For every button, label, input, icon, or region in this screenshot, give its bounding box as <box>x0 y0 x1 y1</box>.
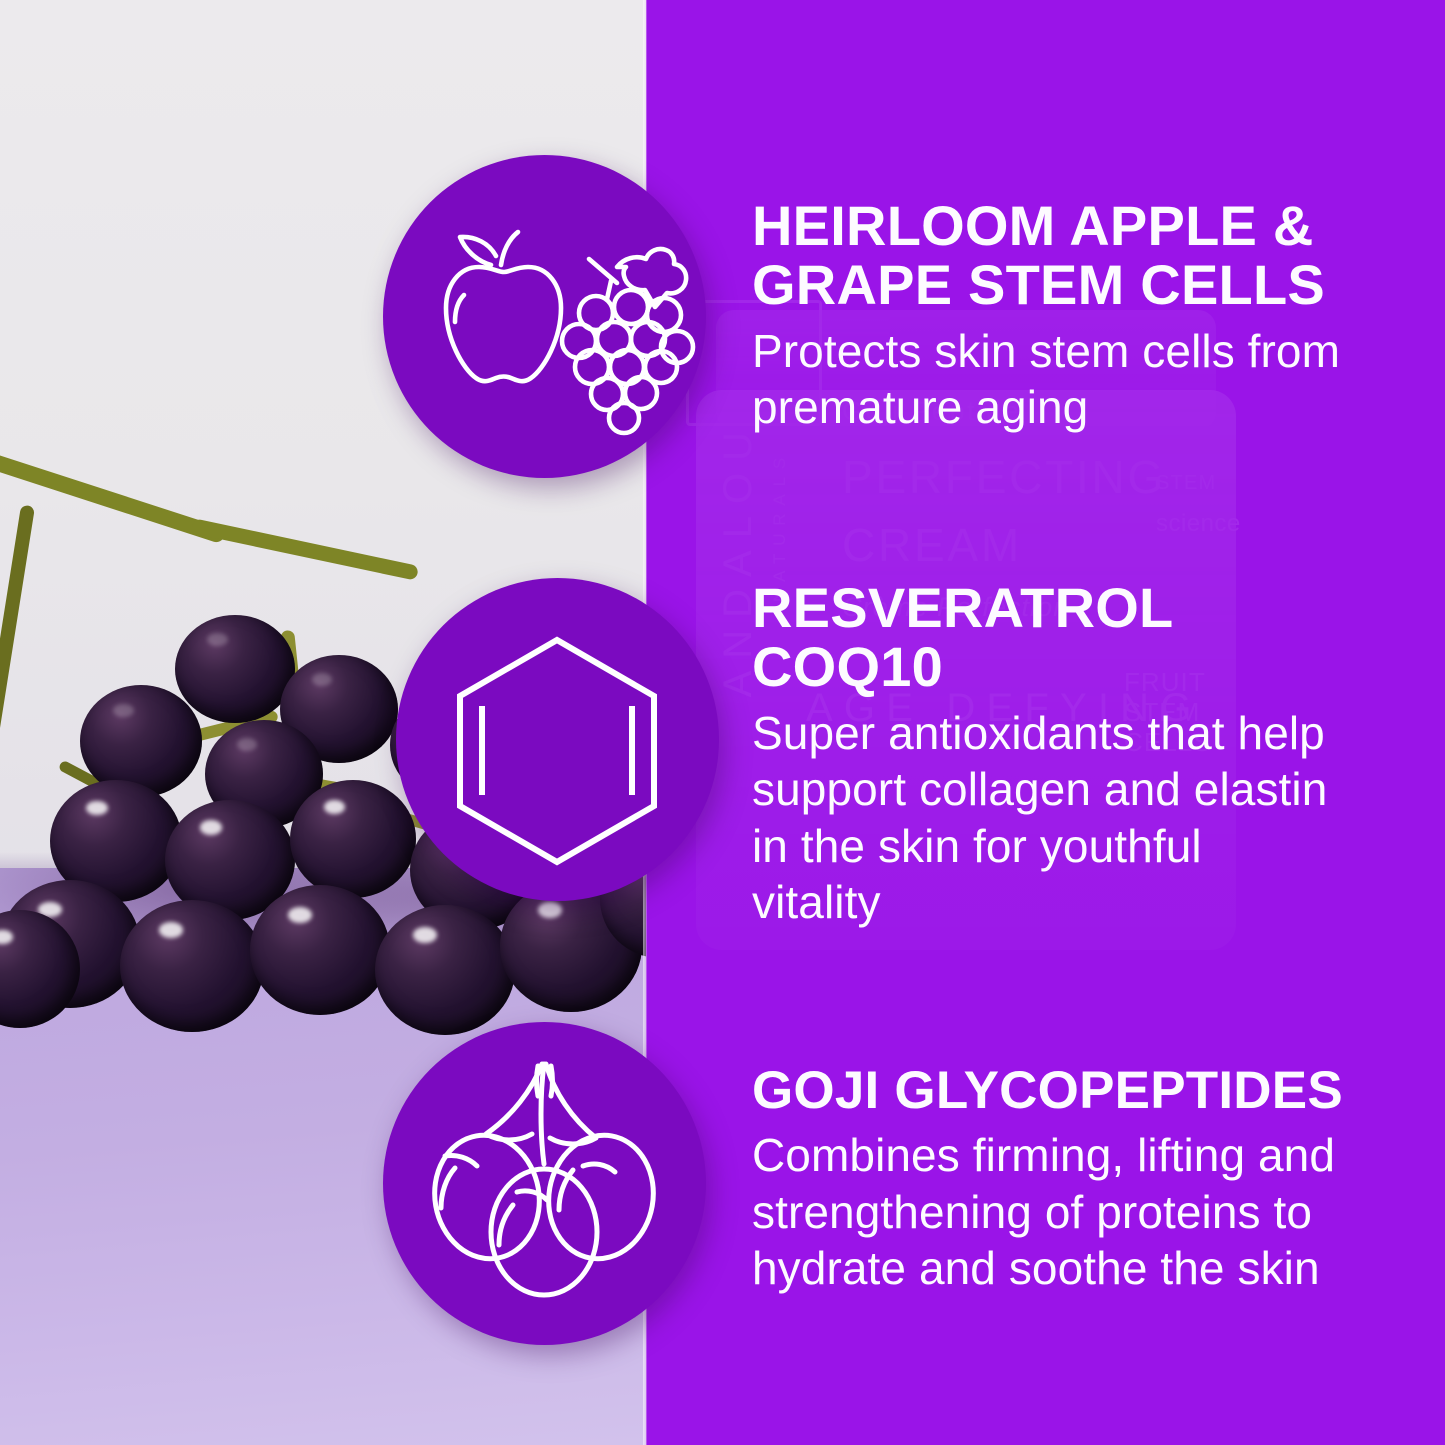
feature-text-block-3: GOJI GLYCOPEPTIDES Combines firming, lif… <box>752 1063 1412 1297</box>
feature-text-block-1: HEIRLOOM APPLE & GRAPE STEM CELLS Protec… <box>752 196 1392 436</box>
feature-icon-circle-1 <box>383 155 706 478</box>
feature-body-2: Super antioxidants that help support col… <box>752 705 1332 931</box>
watermark-science-small: science <box>1156 510 1241 538</box>
feature-title-1: HEIRLOOM APPLE & GRAPE STEM CELLS <box>752 196 1392 315</box>
feature-title-3: GOJI GLYCOPEPTIDES <box>752 1063 1412 1119</box>
feature-text-block-2: RESVERATROL COQ10 Super antioxidants tha… <box>752 578 1332 931</box>
hexagon-molecule-icon <box>396 578 719 901</box>
goji-berries-icon <box>383 1022 706 1345</box>
watermark-stem-small: STEM <box>1156 472 1216 495</box>
feature-icon-circle-2 <box>396 578 719 901</box>
infographic-canvas: ANDALOU NATURALS Goji Peptide PERFECTING… <box>0 0 1445 1445</box>
feature-icon-circle-3 <box>383 1022 706 1345</box>
watermark-line-3: CREAM <box>842 518 1022 572</box>
feature-title-2: RESVERATROL COQ10 <box>752 578 1332 697</box>
watermark-line-2: PERFECTING <box>842 450 1166 504</box>
feature-body-3: Combines firming, lifting and strengthen… <box>752 1127 1412 1297</box>
apple-grape-icon <box>383 155 706 478</box>
feature-body-1: Protects skin stem cells from premature … <box>752 323 1392 436</box>
